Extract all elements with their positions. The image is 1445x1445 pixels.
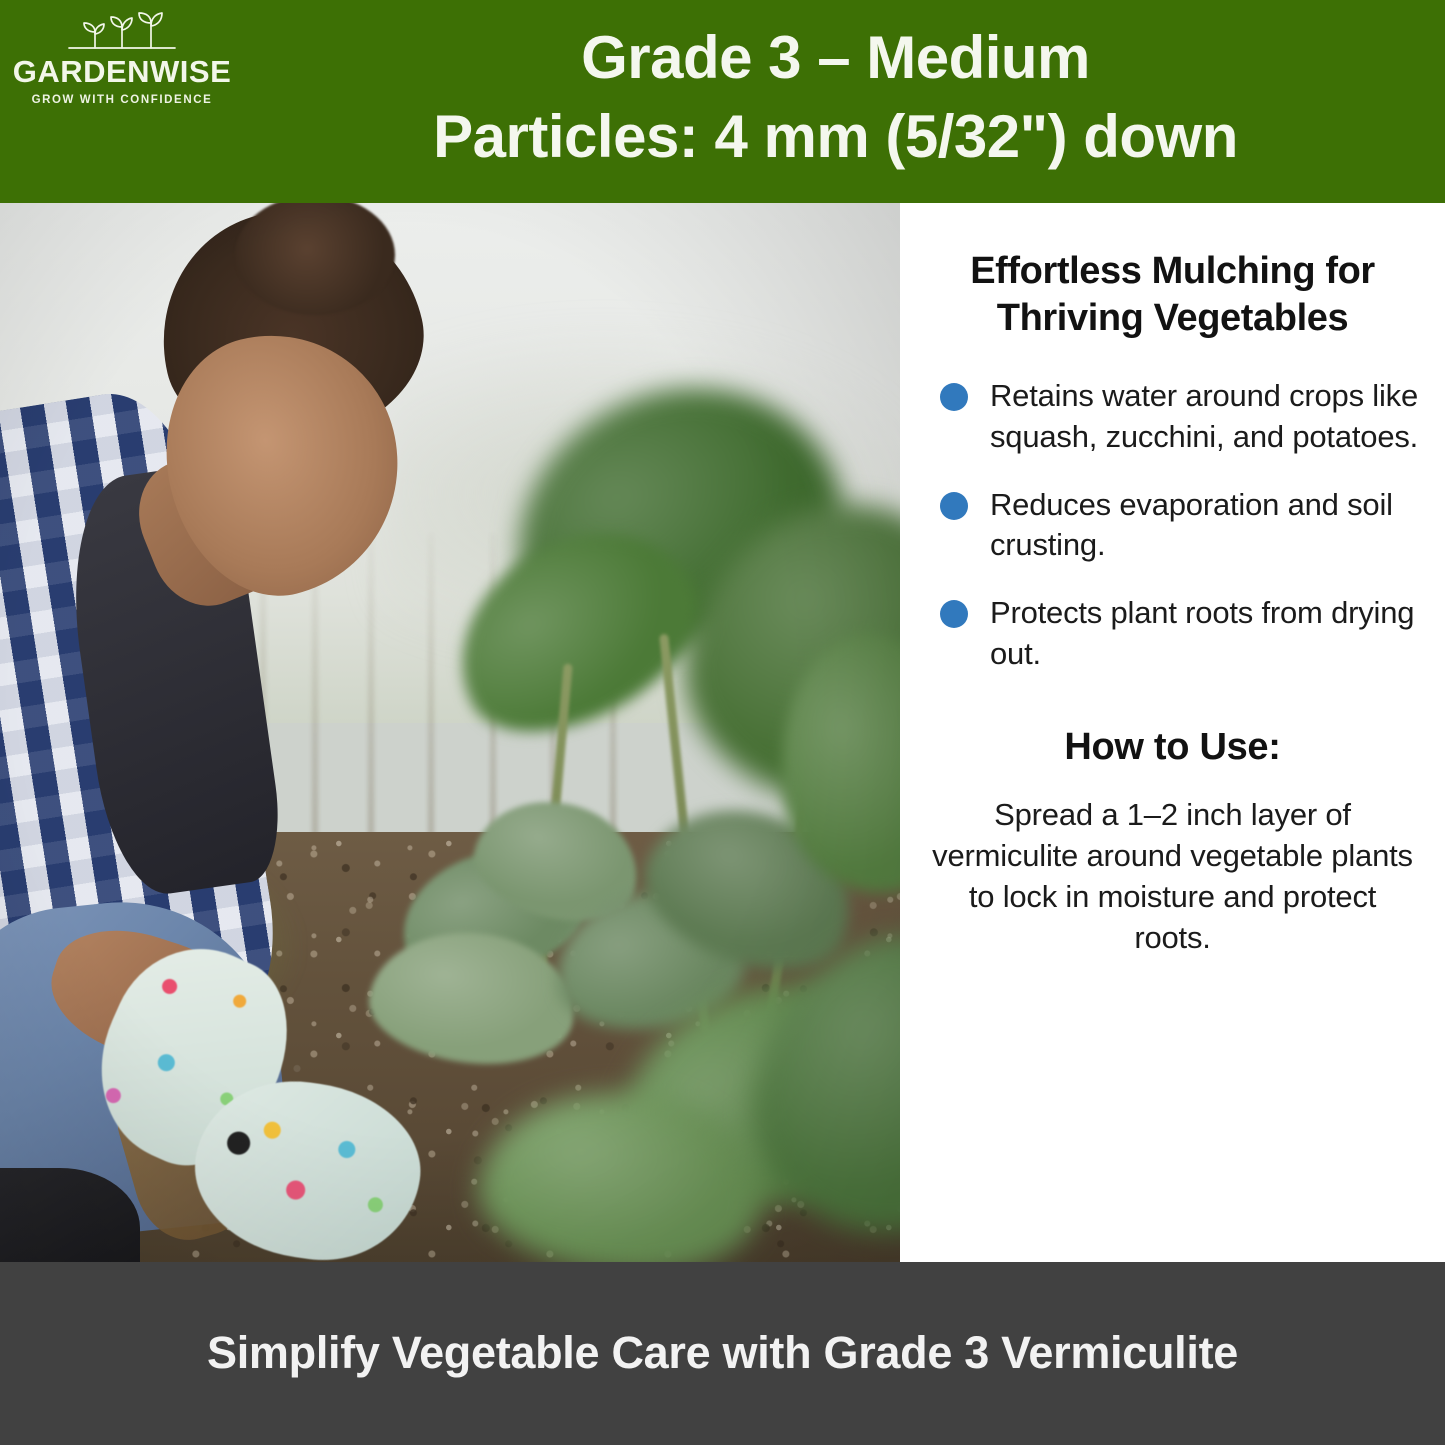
benefit-text: Protects plant roots from drying out. xyxy=(990,593,1423,674)
bullet-dot-icon xyxy=(940,492,968,520)
list-item: Reduces evaporation and soil crusting. xyxy=(922,485,1423,566)
brand-name: GARDENWISE xyxy=(12,56,232,87)
how-to-use-heading: How to Use: xyxy=(922,726,1423,769)
benefit-text: Retains water around crops like squash, … xyxy=(990,376,1423,457)
photo-vegetable-plants xyxy=(360,333,900,1262)
three-sprouts-icon xyxy=(47,12,197,54)
info-panel: Effortless Mulching for Thriving Vegetab… xyxy=(900,203,1445,1262)
header-title-line2: Particles: 4 mm (5/32") down xyxy=(238,97,1433,176)
list-item: Retains water around crops like squash, … xyxy=(922,376,1423,457)
panel-heading: Effortless Mulching for Thriving Vegetab… xyxy=(922,248,1423,342)
brand-logo: GARDENWISE GROW WITH CONFIDENCE xyxy=(12,12,232,106)
footer-banner: Simplify Vegetable Care with Grade 3 Ver… xyxy=(0,1262,1445,1445)
bullet-dot-icon xyxy=(940,600,968,628)
header-banner: GARDENWISE GROW WITH CONFIDENCE Grade 3 … xyxy=(0,0,1445,203)
product-infographic: GARDENWISE GROW WITH CONFIDENCE Grade 3 … xyxy=(0,0,1445,1445)
header-title: Grade 3 – Medium Particles: 4 mm (5/32")… xyxy=(238,18,1433,176)
hero-photo xyxy=(0,203,900,1262)
benefit-text: Reduces evaporation and soil crusting. xyxy=(990,485,1423,566)
benefits-list: Retains water around crops like squash, … xyxy=(922,376,1423,674)
how-to-use-body: Spread a 1–2 inch layer of vermiculite a… xyxy=(922,795,1423,959)
header-title-line1: Grade 3 – Medium xyxy=(581,24,1090,91)
list-item: Protects plant roots from drying out. xyxy=(922,593,1423,674)
bullet-dot-icon xyxy=(940,383,968,411)
footer-tagline: Simplify Vegetable Care with Grade 3 Ver… xyxy=(163,1324,1283,1383)
brand-tagline: GROW WITH CONFIDENCE xyxy=(12,94,232,106)
